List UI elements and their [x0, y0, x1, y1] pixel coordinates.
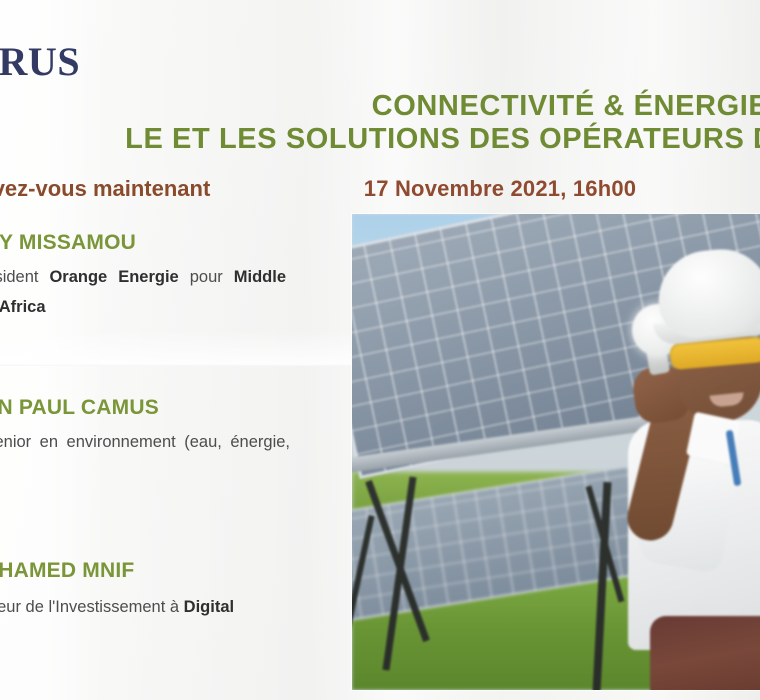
- photo-vignette: [352, 214, 760, 690]
- speaker-1-name: JEAN SY MISSAMOU: [0, 231, 136, 255]
- headline-line-2: LE ET LES SOLUTIONS DES OPÉRATEURS DE BI…: [0, 123, 760, 156]
- slide-headline: CONNECTIVITÉ & ÉNERGIE LE ET LES SOLUTIO…: [0, 90, 760, 156]
- speaker-3-role-text: Directeur de l'Investissement à Digital: [0, 598, 234, 616]
- speaker-2-role: Expert senior en environnement (eau, éne…: [0, 427, 290, 487]
- speaker-1-role-text: Vice President Orange Energie pour Middl…: [0, 268, 286, 316]
- presentation-slide: FORUS CONNECTIVITÉ & ÉNERGIE LE ET LES S…: [0, 0, 760, 700]
- headline-line-1: CONNECTIVITÉ & ÉNERGIE: [0, 90, 760, 123]
- brand-logo-word: FORUS: [0, 38, 80, 85]
- panel-seam-gradient: [0, 330, 360, 366]
- panel-seam-line: [0, 364, 360, 366]
- speaker-3-name: MOHAMED MNIF: [0, 559, 134, 583]
- speaker-2-name: JEAN PAUL CAMUS: [0, 396, 159, 420]
- register-cta[interactable]: Inscrivez-vous maintenant: [0, 176, 210, 202]
- solar-technician-photo: [352, 214, 760, 690]
- speaker-1-role: Vice President Orange Energie pour Middl…: [0, 262, 286, 322]
- speaker-3-role: Directeur de l'Investissement à Digital: [0, 592, 314, 622]
- speaker-2-role-text: Expert senior en environnement (eau, éne…: [0, 433, 290, 481]
